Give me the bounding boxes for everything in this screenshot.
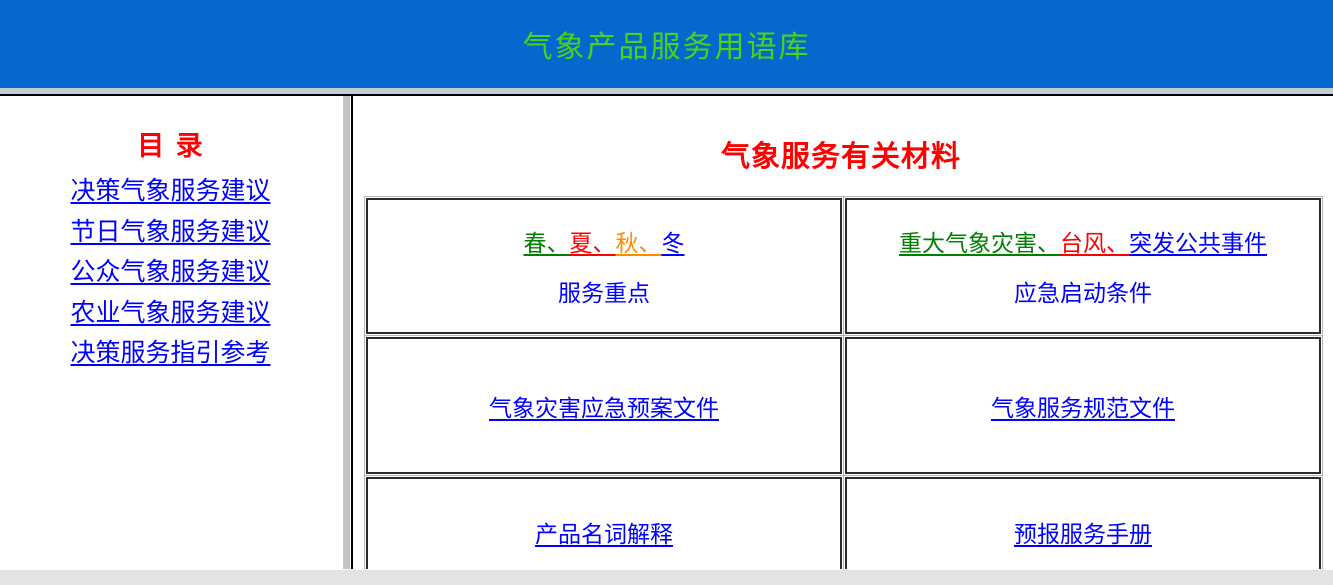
sidebar-item-0[interactable]: 决策气象服务建议 bbox=[0, 171, 341, 212]
content-frame: 气象服务有关材料 春、夏、秋、冬 服务重点 重大气象灾害、台风、突发公共事件 应… bbox=[353, 96, 1333, 583]
season-spring-link[interactable]: 春、 bbox=[524, 231, 570, 257]
sidebar-item-3[interactable]: 农业气象服务建议 bbox=[0, 293, 341, 334]
sidebar-item-4[interactable]: 决策服务指引参考 bbox=[0, 333, 341, 374]
table-cell-glossary: 产品名词解释 bbox=[366, 477, 842, 583]
table-row: 春、夏、秋、冬 服务重点 重大气象灾害、台风、突发公共事件 应急启动条件 bbox=[366, 198, 1321, 334]
product-glossary-link[interactable]: 产品名词解释 bbox=[535, 522, 673, 548]
seasons-link-group[interactable]: 春、夏、秋、冬 bbox=[372, 224, 836, 258]
table-cell-emergency: 重大气象灾害、台风、突发公共事件 应急启动条件 bbox=[845, 198, 1321, 334]
major-disaster-link[interactable]: 重大气象灾害、 bbox=[899, 231, 1060, 257]
frame-divider[interactable] bbox=[341, 96, 353, 583]
sidebar-link-decision-guide[interactable]: 决策服务指引参考 bbox=[70, 338, 270, 367]
sidebar-frame: 目 录 决策气象服务建议 节日气象服务建议 公众气象服务建议 农业气象服务建议 … bbox=[0, 96, 341, 583]
horizontal-scrollbar-thumb[interactable] bbox=[0, 570, 1333, 585]
sidebar-content: 目 录 决策气象服务建议 节日气象服务建议 公众气象服务建议 农业气象服务建议 … bbox=[0, 96, 341, 374]
frame-divider-handle[interactable] bbox=[343, 96, 350, 583]
emergency-link-group[interactable]: 重大气象灾害、台风、突发公共事件 bbox=[851, 224, 1315, 258]
toc-heading: 目 录 bbox=[0, 124, 341, 163]
season-summer-link[interactable]: 夏、 bbox=[570, 231, 616, 257]
sidebar-link-holiday-advice[interactable]: 节日气象服务建议 bbox=[70, 217, 270, 246]
page-banner: 气象产品服务用语库 bbox=[0, 0, 1333, 88]
sidebar-link-decision-advice[interactable]: 决策气象服务建议 bbox=[70, 176, 270, 205]
forecast-service-manual-link[interactable]: 预报服务手册 bbox=[1014, 522, 1152, 548]
sidebar-item-2[interactable]: 公众气象服务建议 bbox=[0, 252, 341, 293]
page-title: 气象产品服务用语库 bbox=[523, 22, 811, 66]
sidebar-item-1[interactable]: 节日气象服务建议 bbox=[0, 212, 341, 253]
sidebar-link-agriculture-advice[interactable]: 农业气象服务建议 bbox=[70, 298, 270, 327]
emergency-caption: 应急启动条件 bbox=[851, 274, 1315, 308]
seasons-caption: 服务重点 bbox=[372, 274, 836, 308]
materials-table: 春、夏、秋、冬 服务重点 重大气象灾害、台风、突发公共事件 应急启动条件 气象灾… bbox=[363, 195, 1324, 583]
table-cell-service-standard: 气象服务规范文件 bbox=[845, 337, 1321, 474]
main-body: 目 录 决策气象服务建议 节日气象服务建议 公众气象服务建议 农业气象服务建议 … bbox=[0, 96, 1333, 583]
disaster-emergency-plan-link[interactable]: 气象灾害应急预案文件 bbox=[489, 396, 719, 422]
service-standard-doc-link[interactable]: 气象服务规范文件 bbox=[991, 396, 1175, 422]
table-row: 产品名词解释 预报服务手册 bbox=[366, 477, 1321, 583]
horizontal-scrollbar[interactable] bbox=[0, 569, 1333, 585]
season-autumn-link[interactable]: 秋、 bbox=[616, 231, 662, 257]
frame-separator-top bbox=[0, 88, 1333, 96]
season-winter-link[interactable]: 冬 bbox=[662, 231, 685, 257]
public-emergency-link[interactable]: 突发公共事件 bbox=[1129, 231, 1267, 257]
table-row: 气象灾害应急预案文件 气象服务规范文件 bbox=[366, 337, 1321, 474]
table-cell-forecast-manual: 预报服务手册 bbox=[845, 477, 1321, 583]
content-heading: 气象服务有关材料 bbox=[363, 133, 1333, 175]
table-cell-disaster-plan: 气象灾害应急预案文件 bbox=[366, 337, 842, 474]
sidebar-link-public-advice[interactable]: 公众气象服务建议 bbox=[70, 257, 270, 286]
typhoon-link[interactable]: 台风、 bbox=[1060, 231, 1129, 257]
table-cell-seasons: 春、夏、秋、冬 服务重点 bbox=[366, 198, 842, 334]
